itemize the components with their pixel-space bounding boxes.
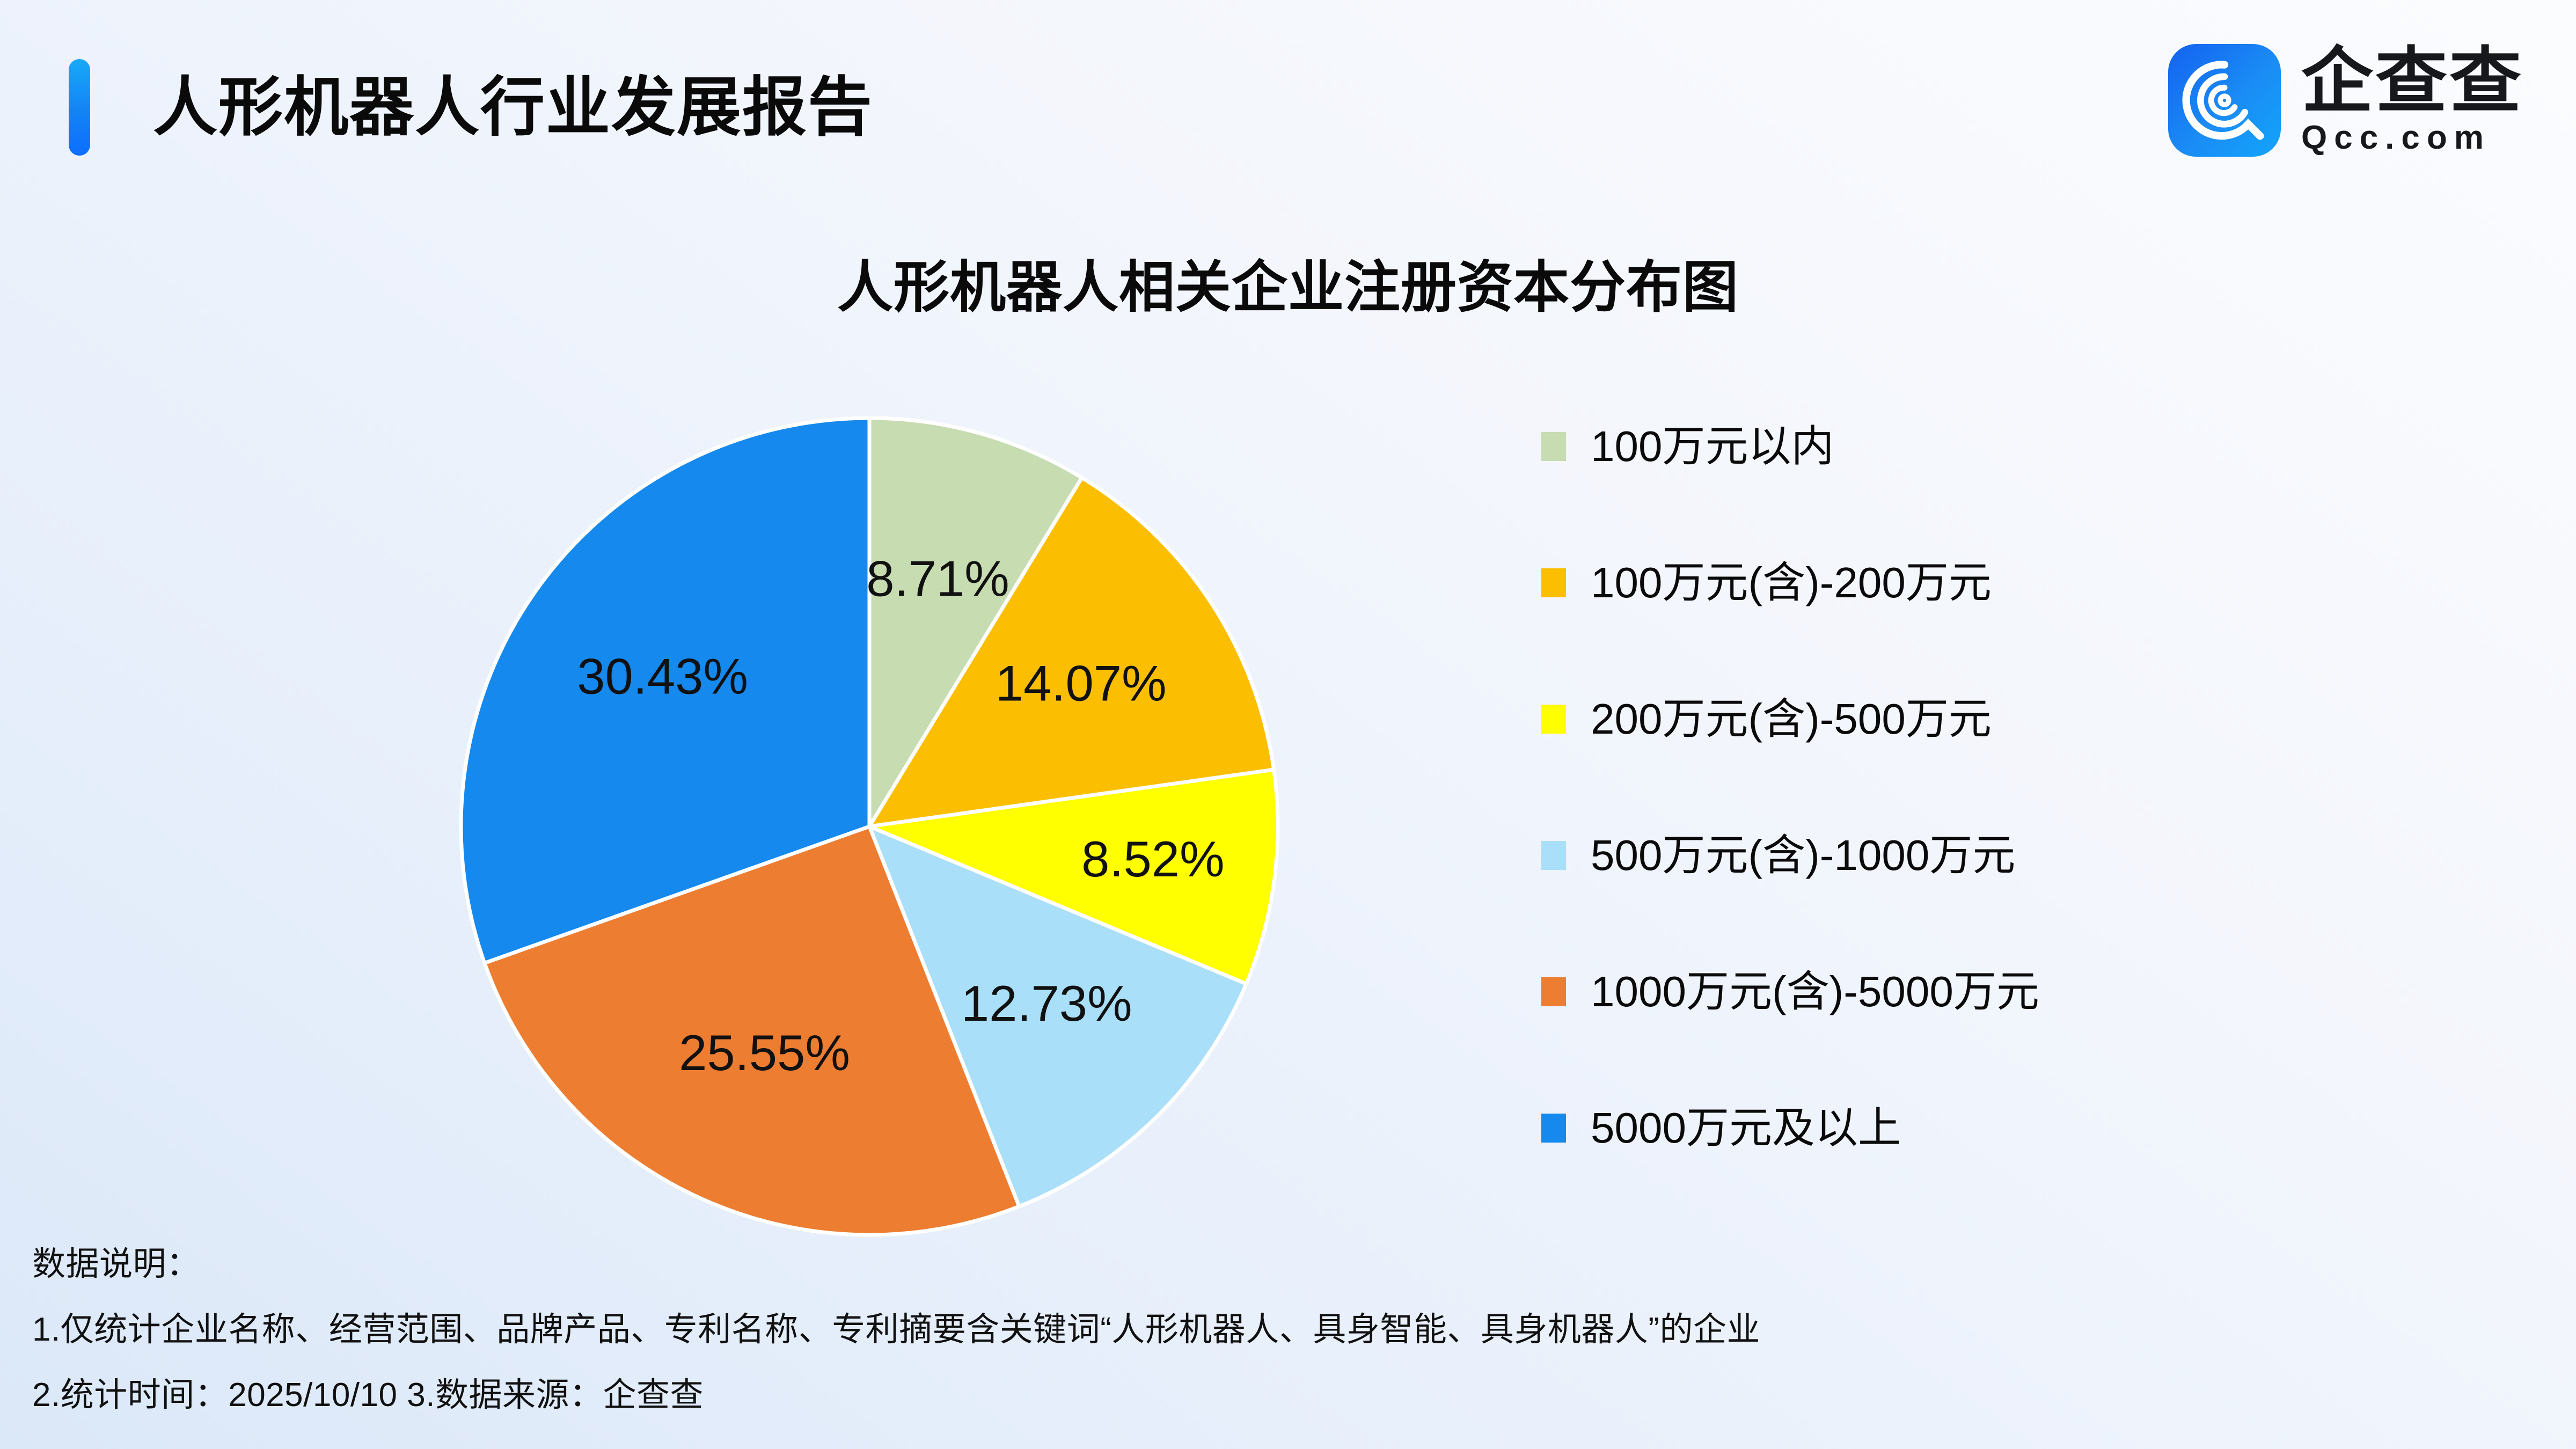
notes-heading: 数据说明： xyxy=(32,1232,2501,1297)
pie-slice-value-label: 30.43% xyxy=(577,648,748,705)
legend-item-label: 5000万元及以上 xyxy=(1591,1106,1901,1151)
legend-color-swatch xyxy=(1541,841,1566,870)
legend-color-swatch xyxy=(1541,568,1566,597)
legend-item[interactable]: 100万元以内 xyxy=(1541,424,2346,469)
legend-item[interactable]: 100万元(含)-200万元 xyxy=(1541,560,2346,605)
qcc-spiral-logo-icon xyxy=(2168,44,2281,157)
legend-item[interactable]: 1000万元(含)-5000万元 xyxy=(1541,969,2346,1014)
legend-item-label: 1000万元(含)-5000万元 xyxy=(1591,969,2039,1014)
legend-item-label: 100万元(含)-200万元 xyxy=(1591,560,1992,605)
pie-slice-value-label: 25.55% xyxy=(679,1024,850,1081)
brand-wordmark: 企查查 Qcc.com xyxy=(2301,44,2523,157)
pie-slice-value-label: 14.07% xyxy=(996,655,1167,712)
pie-slice-value-label: 12.73% xyxy=(961,975,1132,1031)
notes-line-2: 2.统计时间：2025/10/10 3.数据来源：企查查 xyxy=(32,1363,2501,1428)
pie-slice-group xyxy=(461,418,1278,1235)
data-notes: 数据说明： 1.仅统计企业名称、经营范围、品牌产品、专利名称、专利摘要含关键词“… xyxy=(32,1232,2501,1428)
brand-name-cn: 企查查 xyxy=(2301,44,2523,119)
pie-chart: 8.71%14.07%8.52%12.73%25.55%30.43% xyxy=(408,370,1331,1283)
notes-line-1: 1.仅统计企业名称、经营范围、品牌产品、专利名称、专利摘要含关键词“人形机器人、… xyxy=(32,1297,2501,1363)
legend-item-label: 200万元(含)-500万元 xyxy=(1591,697,1992,742)
legend-item-label: 100万元以内 xyxy=(1591,424,1834,469)
legend-item-label: 500万元(含)-1000万元 xyxy=(1591,833,2015,878)
legend-item[interactable]: 5000万元及以上 xyxy=(1541,1106,2346,1151)
legend-color-swatch xyxy=(1541,1114,1566,1143)
legend-color-swatch xyxy=(1541,705,1566,734)
legend-item[interactable]: 200万元(含)-500万元 xyxy=(1541,697,2346,742)
brand-logo: 企查查 Qcc.com xyxy=(2168,44,2523,157)
chart-legend: 100万元以内100万元(含)-200万元200万元(含)-500万元500万元… xyxy=(1541,424,2346,1242)
legend-color-swatch xyxy=(1541,432,1566,461)
legend-color-swatch xyxy=(1541,977,1566,1006)
brand-name-en: Qcc.com xyxy=(2301,119,2523,157)
title-accent-bar xyxy=(69,59,90,156)
page-title: 人形机器人行业发展报告 xyxy=(153,59,873,156)
legend-item[interactable]: 500万元(含)-1000万元 xyxy=(1541,833,2346,878)
pie-slice-value-label: 8.52% xyxy=(1081,831,1225,887)
pie-slice-value-label: 8.71% xyxy=(866,551,1009,607)
page-header: 人形机器人行业发展报告 企查查 Qcc.com xyxy=(0,0,2576,204)
chart-title: 人形机器人相关企业注册资本分布图 xyxy=(0,241,2576,323)
